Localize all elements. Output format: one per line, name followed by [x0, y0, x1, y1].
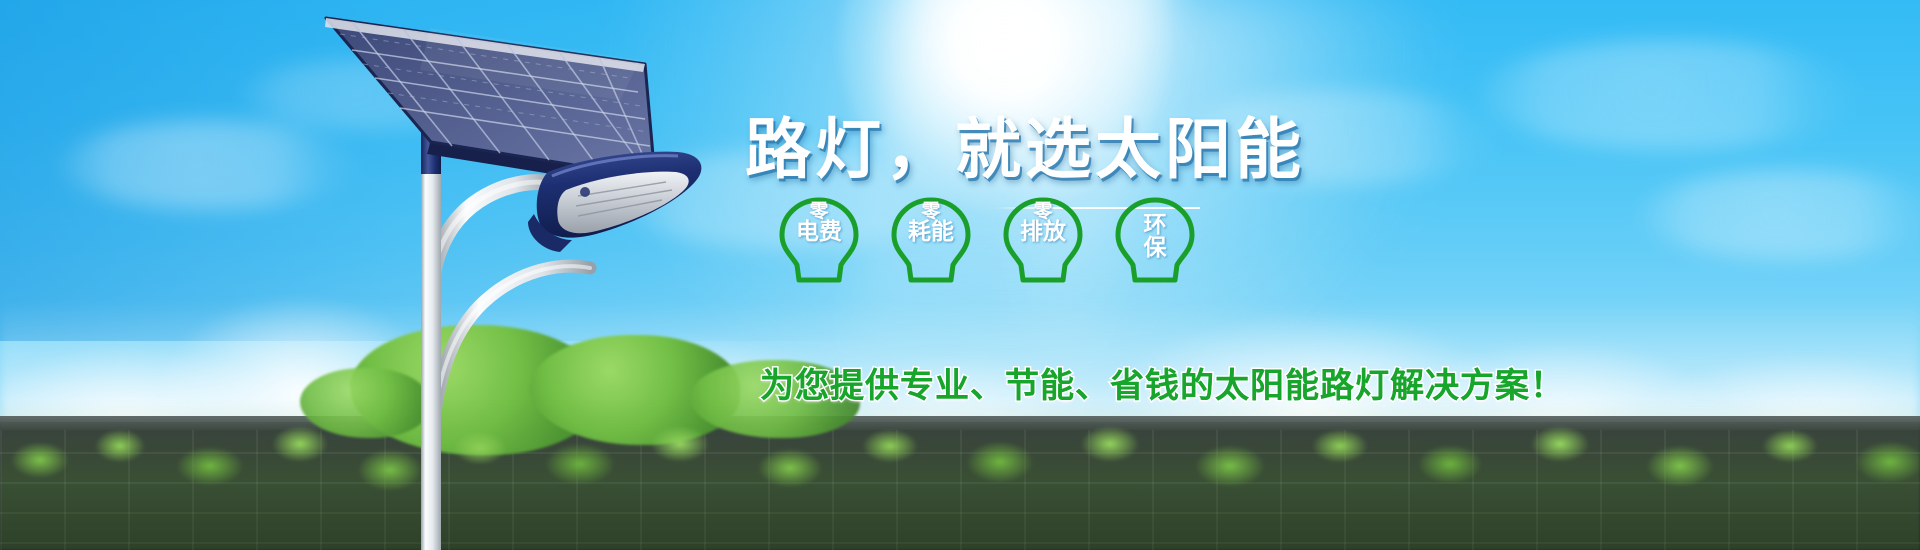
feature-bulb-zero-emission[interactable]: 零 排放: [1002, 196, 1084, 288]
feature-label: 耗能: [890, 221, 972, 244]
feature-bulb-list: 零 电费 零 耗能 零 排放 环保: [778, 196, 1198, 296]
feature-label: 电费: [778, 221, 860, 244]
solar-street-lamp-banner: 路灯，就选太阳能 零 电费 零 耗能: [0, 0, 1920, 550]
page-title: 路灯，就选太阳能: [745, 96, 1305, 192]
feature-bulb-zero-energy-use[interactable]: 零 耗能: [890, 196, 972, 288]
feature-bulb-zero-electricity-cost[interactable]: 零 电费: [778, 196, 860, 288]
feature-bulb-label: 零 电费: [778, 202, 860, 245]
feature-label-char: 保: [1114, 237, 1196, 260]
feature-label-char: 环: [1114, 214, 1196, 237]
cloud-wisp: [240, 60, 500, 130]
feature-bulb-environmental-protection[interactable]: 环保: [1114, 196, 1196, 288]
page-subtitle: 为您提供专业、节能、省钱的太阳能路灯解决方案！: [760, 358, 1565, 407]
feature-label: 排放: [1002, 221, 1084, 244]
ivy-foliage: [0, 400, 1920, 550]
feature-bulb-label: 零 排放: [1002, 202, 1084, 245]
feature-bulb-label: 环保: [1114, 214, 1196, 261]
cloud-wisp: [1480, 40, 1860, 150]
feature-bulb-label: 零 耗能: [890, 202, 972, 245]
